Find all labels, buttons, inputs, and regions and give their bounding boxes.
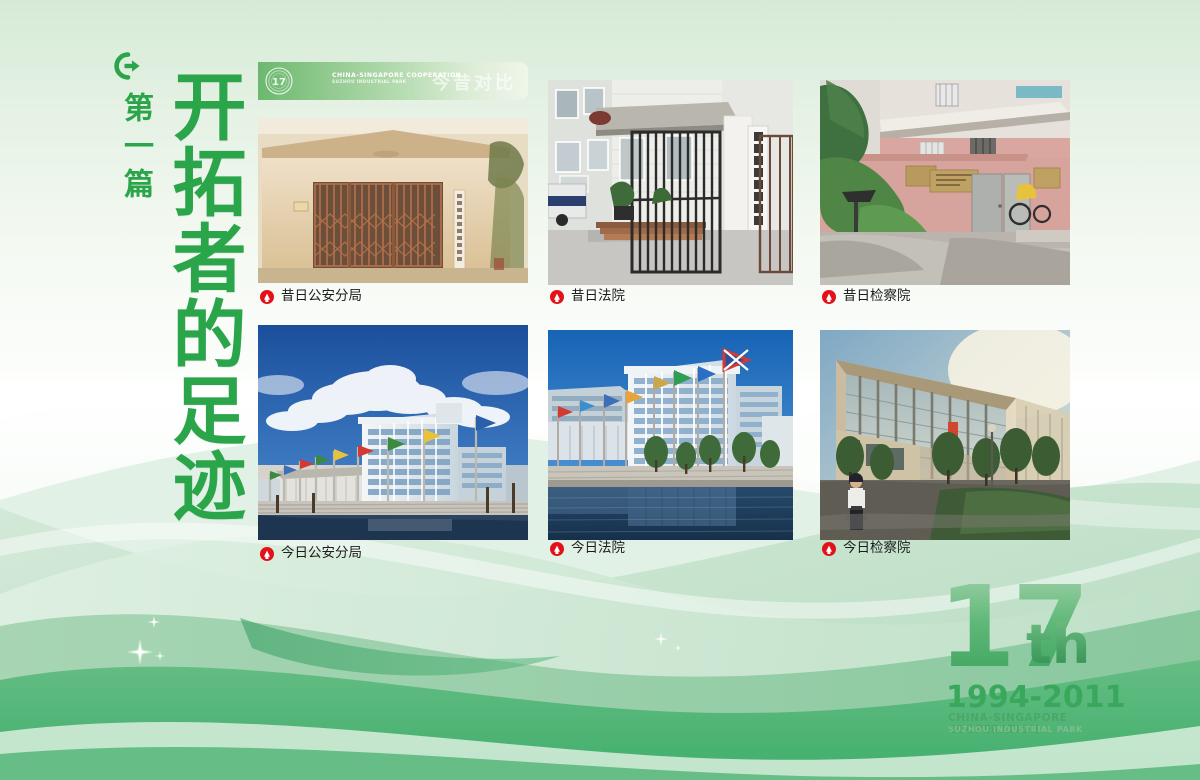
- photo-past-procuratorate[interactable]: [820, 80, 1070, 285]
- caption-present-police-bureau: 今日公安分局: [260, 547, 362, 561]
- caption-text: 今日法院: [571, 542, 625, 556]
- chapter-title-block: 第一篇 开拓者的足迹: [96, 46, 246, 546]
- caption-text: 昔日检察院: [843, 290, 911, 304]
- caption-past-police-bureau: 昔日公安分局: [260, 290, 362, 304]
- caption-past-procuratorate: 昔日检察院: [822, 290, 911, 304]
- banner-chinese-title: 今昔对比: [432, 69, 516, 95]
- photo-present-court[interactable]: [548, 330, 793, 540]
- photo-past-police-bureau[interactable]: [258, 118, 528, 283]
- gallery-item[interactable]: 今日检察院: [820, 330, 1070, 540]
- gallery-banner: 17 SUZHOU PARK CHINA-SINGAPORE COOPERATI…: [258, 62, 528, 100]
- red-arrow-pin-icon: [822, 542, 836, 556]
- anniversary-suffix: th: [1026, 618, 1090, 672]
- anniversary-years: 1994-2011: [946, 680, 1125, 715]
- photo-past-court[interactable]: [548, 80, 793, 285]
- caption-past-court: 昔日法院: [550, 290, 625, 304]
- red-arrow-pin-icon: [550, 542, 564, 556]
- gallery-item[interactable]: 昔日法院: [548, 80, 793, 290]
- anniversary-seal-icon: 17: [264, 66, 294, 96]
- caption-present-procuratorate: 今日检察院: [822, 542, 911, 556]
- red-arrow-pin-icon: [822, 290, 836, 304]
- caption-text: 今日公安分局: [281, 547, 362, 561]
- anniversary-logo: 17 th 1994-2011 CHINA-SINGAPORE COOPERAT…: [938, 576, 1138, 736]
- svg-text:17: 17: [272, 77, 286, 88]
- caption-text: 昔日法院: [571, 290, 625, 304]
- gallery-item[interactable]: 今日法院: [548, 330, 793, 540]
- caption-present-court: 今日法院: [550, 542, 625, 556]
- gallery-item[interactable]: 今日公安分局: [258, 325, 528, 540]
- poster-page: 第一篇 开拓者的足迹 17 SUZHOU PARK CHINA-SINGAPOR…: [0, 0, 1200, 780]
- photo-present-police-bureau[interactable]: [258, 325, 528, 540]
- gallery-item[interactable]: 昔日检察院: [820, 80, 1070, 290]
- anniversary-org-line-2: SUZHOU INDUSTRIAL PARK: [948, 725, 1083, 734]
- photo-gallery: 17 SUZHOU PARK CHINA-SINGAPORE COOPERATI…: [258, 62, 1074, 577]
- chapter-label: 第一篇: [104, 92, 150, 206]
- caption-text: 昔日公安分局: [281, 290, 362, 304]
- red-arrow-pin-icon: [550, 290, 564, 304]
- page-title: 开拓者的足迹: [148, 68, 240, 524]
- red-arrow-pin-icon: [260, 290, 274, 304]
- arrow-right-circle-icon: [114, 52, 142, 80]
- photo-present-procuratorate[interactable]: [820, 330, 1070, 540]
- gallery-item[interactable]: 昔日公安分局: [258, 118, 528, 290]
- red-arrow-pin-icon: [260, 547, 274, 561]
- caption-text: 今日检察院: [843, 542, 911, 556]
